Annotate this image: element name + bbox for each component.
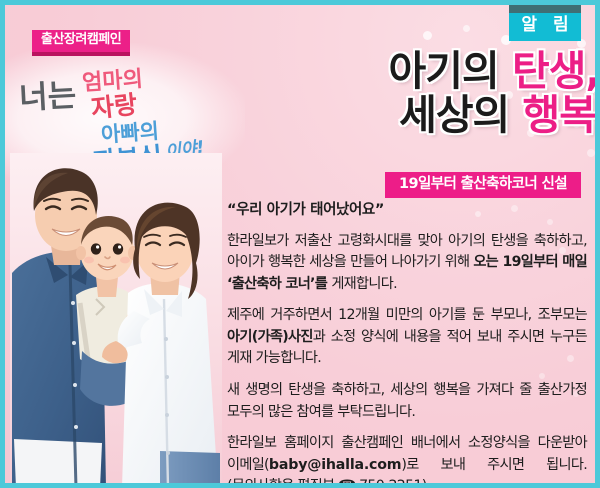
pull-quote: “우리 아기가 태어났어요” (227, 201, 587, 221)
headline-line2-plain: 세상의 (399, 91, 522, 139)
headline-line1-plain: 아기의 (389, 47, 512, 95)
family-photo (10, 153, 222, 488)
subtitle-banner: 19일부터 출산축하코너 신설 (385, 172, 581, 198)
headline-line-2: 세상의 행복 (215, 93, 600, 137)
telephone-icon: ☎ (338, 478, 355, 488)
subtitle-banner-label: 19일부터 출산축하코너 신설 (399, 176, 567, 192)
headline-line1-pink: 탄생, (512, 47, 600, 95)
calligraphy-mom: 엄마의 (81, 61, 144, 97)
email-address[interactable]: baby@ihalla.com (269, 457, 402, 473)
headline-line2-pink: 행복 (523, 91, 596, 139)
headline: 아기의 탄생, 세상의 행복 (215, 49, 600, 138)
notice-badge: 알 림 (509, 5, 581, 41)
paragraph-3: 새 생명의 탄생을 축하하고, 세상의 행복을 가져다 줄 출산가정 모두의 많… (227, 380, 587, 423)
advertisement-frame: 출산장려캠페인 알 림 너는 엄마의 자랑 아빠의 자부심, 이야! (0, 0, 600, 488)
paragraph-1: 한라일보가 저출산 고령화시대를 맞아 아기의 탄생을 축하하고, 아이가 행복… (227, 231, 587, 296)
phone-number: 750-2251) (355, 478, 426, 488)
paragraph-4: 한라일보 홈페이지 출산캠페인 배너에서 소정양식을 다운받아 이메일(baby… (227, 433, 587, 488)
headline-line-1: 아기의 탄생, (215, 49, 600, 93)
campaign-badge-label: 출산장려캠페인 (41, 32, 121, 47)
paragraph-2-bold: 아기(가족)사진 (227, 329, 313, 345)
body-copy: “우리 아기가 태어났어요” 한라일보가 저출산 고령화시대를 맞아 아기의 탄… (227, 201, 587, 488)
notice-badge-label: 알 림 (509, 15, 581, 36)
paragraph-2: 제주에 거주하면서 12개월 미만의 아기를 둔 부모나, 조부모는 아기(가족… (227, 305, 587, 370)
paragraph-1-text-b: 게재합니다. (331, 276, 397, 292)
campaign-badge: 출산장려캠페인 (32, 30, 130, 56)
calligraphy-dad: 아빠의 (100, 115, 160, 149)
calligraphy-you: 너는 (18, 70, 77, 118)
paragraph-2-text-a: 제주에 거주하면서 12개월 미만의 아기를 둔 부모나, 조부모는 (227, 307, 587, 323)
calligraphy-mom-pride: 자랑 (89, 85, 139, 126)
